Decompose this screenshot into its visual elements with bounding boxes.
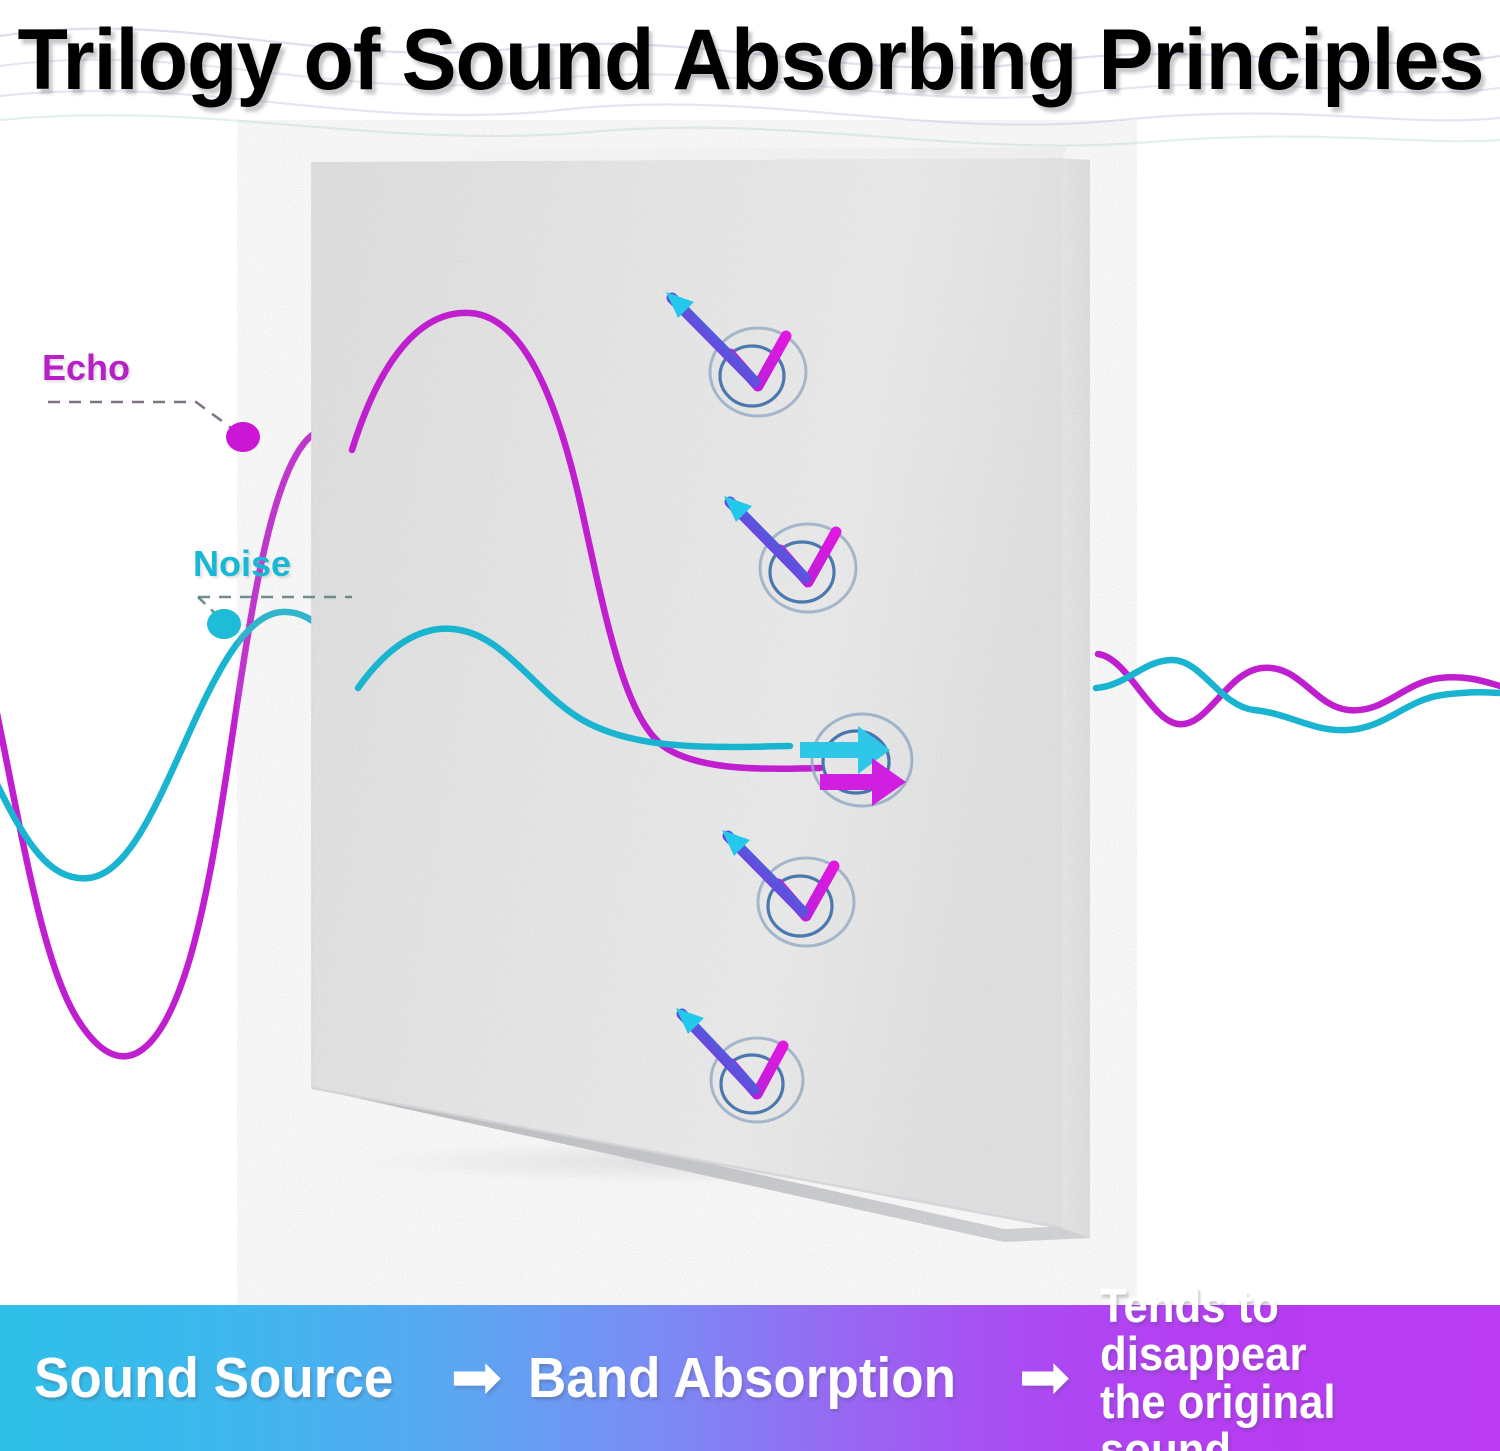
noise-wave-left [0, 612, 358, 878]
echo-wave-left [0, 430, 352, 1056]
flow-step-result-line2: the original sound [1100, 1378, 1472, 1451]
diagram-stage: Echo Noise [0, 120, 1500, 1305]
incoming-waves-left [0, 430, 358, 1056]
process-flow-banner: Sound Source ➡ Band Absorption ➡ Tends t… [0, 1305, 1500, 1451]
flow-step-band-absorption: Band Absorption [528, 1350, 956, 1407]
page-title-block: Trilogy of Sound Absorbing Principles [0, 0, 1500, 120]
noise-wave-right [1096, 660, 1500, 730]
noise-callout-label: Noise [193, 543, 291, 585]
acoustic-panel [312, 147, 1090, 1242]
echo-marker-dot [226, 422, 260, 452]
flow-step-result: Tends to disappear the original sound [1100, 1282, 1472, 1451]
arrow-right-icon-1: ➡ [450, 1347, 502, 1409]
echo-leader-line [48, 402, 234, 430]
arrow-right-icon-2: ➡ [1019, 1347, 1071, 1409]
flow-step-sound-source: Sound Source [34, 1350, 393, 1407]
diagram-canvas [0, 120, 1500, 1305]
noise-marker-dot [207, 609, 241, 639]
page-title: Trilogy of Sound Absorbing Principles [17, 17, 1483, 103]
infographic-root: Trilogy of Sound Absorbing Principles [0, 0, 1500, 1451]
outgoing-waves-right [1096, 654, 1500, 730]
flow-step-result-line1: Tends to disappear [1100, 1282, 1472, 1378]
panel-right-edge [1062, 158, 1090, 1238]
echo-callout-label: Echo [42, 347, 130, 389]
